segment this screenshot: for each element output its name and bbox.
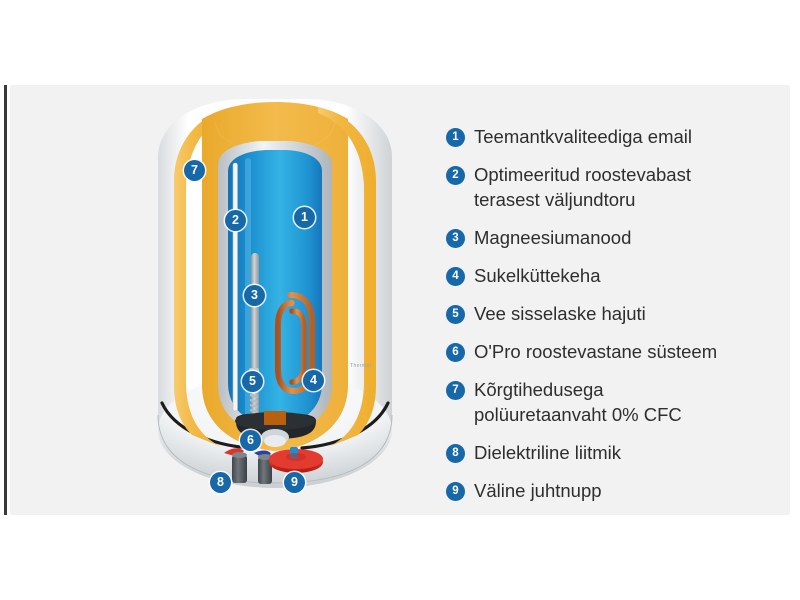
dielectric-fitting-left bbox=[232, 455, 247, 483]
stainless-outlet-pipe bbox=[233, 163, 238, 411]
legend-badge-1: 1 bbox=[446, 128, 465, 147]
legend-label-1: Teemantkvaliteediga email bbox=[474, 124, 692, 149]
page-root: 1 2 3 4 5 6 7 8 9 Thermor 1 Teemantkvali… bbox=[0, 0, 800, 600]
legend-label-8: Dielektriline liitmik bbox=[474, 440, 621, 465]
callout-badge-9: 9 bbox=[284, 472, 305, 493]
panel-left-edge bbox=[4, 85, 7, 515]
callout-badge-7: 7 bbox=[184, 160, 205, 181]
legend-label-9: Väline juhtnupp bbox=[474, 478, 602, 503]
legend-item-5: 5 Vee sisselaske hajuti bbox=[446, 301, 776, 326]
callout-badge-2: 2 bbox=[225, 210, 246, 231]
callout-badge-1: 1 bbox=[294, 207, 315, 228]
legend-badge-9: 9 bbox=[446, 482, 465, 501]
legend-item-9: 9 Väline juhtnupp bbox=[446, 478, 776, 503]
legend-badge-3: 3 bbox=[446, 229, 465, 248]
legend-badge-6: 6 bbox=[446, 343, 465, 362]
callout-badge-8: 8 bbox=[210, 472, 231, 493]
legend-badge-5: 5 bbox=[446, 305, 465, 324]
brand-mark: Thermor bbox=[350, 363, 372, 369]
legend-badge-8: 8 bbox=[446, 444, 465, 463]
legend-item-2: 2 Optimeeritud roostevabast terasest väl… bbox=[446, 162, 776, 212]
callout-badge-6: 6 bbox=[240, 430, 261, 451]
legend-badge-7: 7 bbox=[446, 381, 465, 400]
legend-item-3: 3 Magneesiumanood bbox=[446, 225, 776, 250]
legend-item-4: 4 Sukelküttekeha bbox=[446, 263, 776, 288]
legend-item-8: 8 Dielektriline liitmik bbox=[446, 440, 776, 465]
legend-badge-2: 2 bbox=[446, 166, 465, 185]
callout-badge-4: 4 bbox=[303, 370, 324, 391]
legend-badge-4: 4 bbox=[446, 267, 465, 286]
legend-label-2: Optimeeritud roostevabast terasest välju… bbox=[474, 162, 691, 212]
legend-item-7: 7 Kõrgtihedusega polüuretaanvaht 0% CFC bbox=[446, 377, 776, 427]
callout-badge-3: 3 bbox=[244, 285, 265, 306]
callout-badge-5: 5 bbox=[242, 371, 263, 392]
legend-label-7: Kõrgtihedusega polüuretaanvaht 0% CFC bbox=[474, 377, 682, 427]
legend-label-6: O'Pro roostevastane süsteem bbox=[474, 339, 717, 364]
legend-item-6: 6 O'Pro roostevastane süsteem bbox=[446, 339, 776, 364]
water-heater-illustration bbox=[140, 85, 410, 505]
water-heater-diagram: 1 2 3 4 5 6 7 8 9 bbox=[140, 85, 410, 505]
legend-label-4: Sukelküttekeha bbox=[474, 263, 601, 288]
legend-label-5: Vee sisselaske hajuti bbox=[474, 301, 646, 326]
legend-label-3: Magneesiumanood bbox=[474, 225, 631, 250]
legend-list: 1 Teemantkvaliteediga email 2 Optimeerit… bbox=[446, 124, 776, 516]
legend-item-1: 1 Teemantkvaliteediga email bbox=[446, 124, 776, 149]
